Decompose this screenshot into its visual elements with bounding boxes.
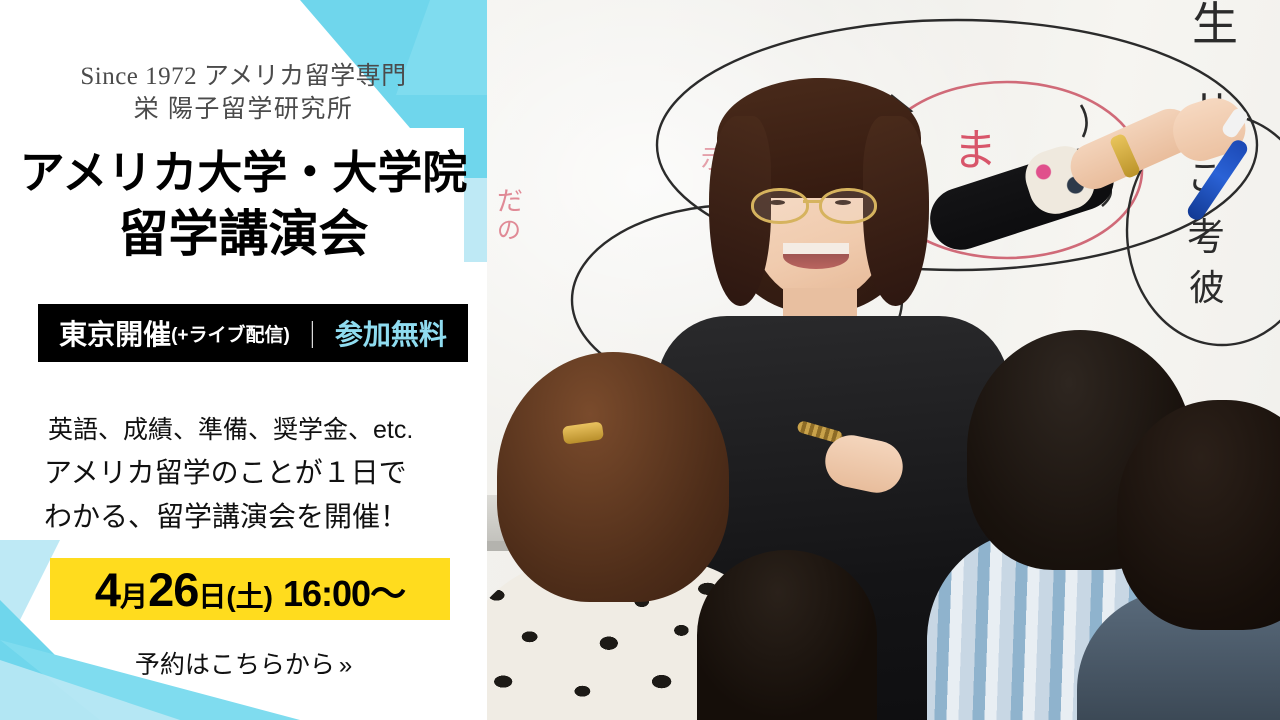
date-month-label: 月: [120, 581, 148, 612]
glasses-lens-left: [751, 188, 809, 224]
status-badge: 東京開催 (+ライブ配信) ｜ 参加無料: [38, 304, 468, 362]
glasses-lens-right: [819, 188, 877, 224]
description-line-2: アメリカ留学のことが１日で: [0, 452, 487, 494]
brand-line-2: 栄 陽子留学研究所: [0, 93, 487, 126]
reservation-link-label: 予約はこちらから: [135, 651, 335, 679]
chevron-right-icon: »: [339, 652, 352, 679]
page-title: アメリカ大学・大学院 留学講演会: [0, 148, 487, 262]
info-panel: Since 1972 アメリカ留学専門 栄 陽子留学研究所 アメリカ大学・大学院…: [0, 0, 487, 720]
date-time: 16:00〜: [283, 573, 405, 614]
date-day-number: 26: [148, 563, 198, 616]
svg-text:生: 生: [1192, 0, 1238, 51]
presenter-smile: [783, 243, 849, 269]
audience-member-center: [677, 570, 877, 720]
description-line-3: わかる、留学講演会を開催！: [0, 496, 487, 538]
event-date-bar: 4月26日(土)16:00〜: [50, 558, 450, 620]
svg-text:考: 考: [1187, 215, 1225, 259]
seminar-promo-banner: 生 H こ 考 彼 ま ～ 示 だ の 水: [0, 0, 1280, 720]
headline-line-1: アメリカ大学・大学院: [0, 148, 487, 198]
svg-text:の: の: [497, 216, 521, 244]
audience-member-far-right: [1087, 390, 1280, 720]
reservation-link[interactable]: 予約はこちらから»: [0, 645, 487, 681]
date-month-number: 4: [95, 563, 120, 616]
description-text: 英語、成績、準備、奨学金、etc. アメリカ留学のことが１日で わかる、留学講演…: [0, 412, 487, 538]
date-day-label: 日(土): [198, 581, 273, 612]
glasses-bridge: [803, 200, 821, 203]
svg-text:彼: 彼: [1189, 268, 1225, 309]
brand-line-1: Since 1972 アメリカ留学専門: [0, 60, 487, 93]
badge-venue: 東京開催: [59, 313, 171, 353]
badge-price: 参加無料: [335, 313, 447, 353]
badge-divider: ｜: [299, 314, 326, 353]
badge-venue-note: (+ライブ配信): [171, 320, 290, 347]
description-line-1: 英語、成績、準備、奨学金、etc.: [0, 412, 487, 450]
seminar-photo: 生 H こ 考 彼 ま ～ 示 だ の 水: [487, 0, 1280, 720]
headline-line-2: 留学講演会: [0, 206, 487, 262]
svg-text:だ: だ: [497, 187, 523, 217]
brand-eyebrow: Since 1972 アメリカ留学専門 栄 陽子留学研究所: [0, 60, 487, 126]
